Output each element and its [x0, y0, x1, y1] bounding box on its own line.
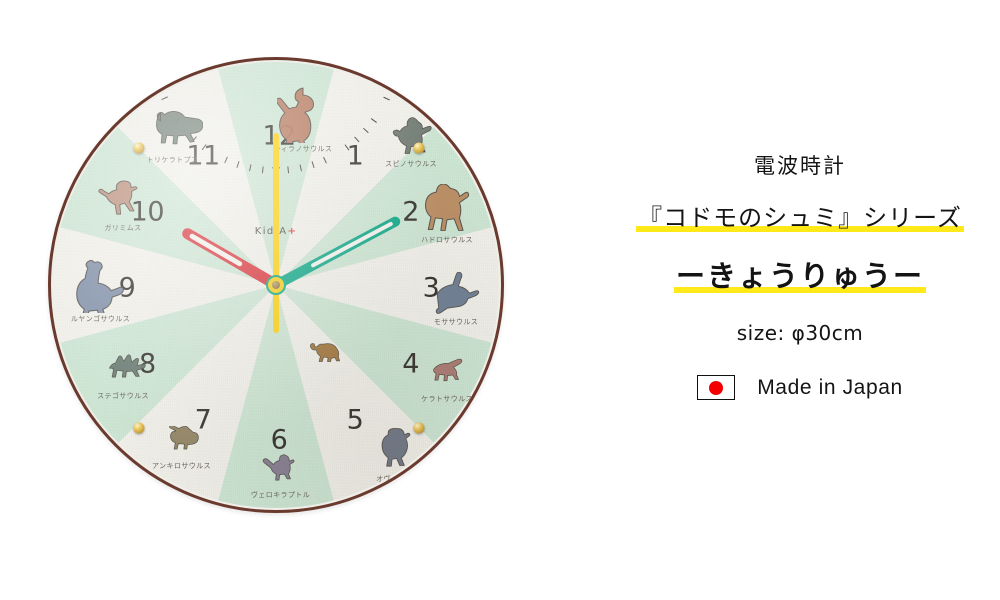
dinosaur-figure-3: ハドロサウルス [420, 184, 474, 234]
brand-name: Kid [255, 226, 275, 237]
decorative-stud-2 [414, 142, 425, 153]
dinosaur-figure-0: ティラノサウルス [277, 85, 329, 143]
series-label-text: 『コドモのシュミ』シリーズ [636, 204, 964, 232]
theme-label-text: ーきょうりゅうー [674, 259, 926, 293]
dinosaur-figure-5: ケラトサウルス [421, 357, 473, 393]
dinosaur-label: モササウルス [434, 317, 478, 327]
product-type-label: 電波時計 [600, 150, 1000, 180]
dinosaur-label: ハドロサウルス [421, 235, 473, 245]
second-hand [273, 133, 279, 333]
product-image: 121234567891011 ティラノサウルス トリケラトプス スピノサウルス… [0, 0, 1000, 600]
dinosaur-label: ステゴサウルス [97, 391, 149, 401]
hour-numeral-5: 5 [347, 404, 364, 435]
minute-tick [388, 85, 395, 88]
hour-numeral-2: 2 [402, 197, 419, 228]
dinosaur-figure-2: スピノサウルス [386, 116, 436, 158]
minute-tick [154, 73, 161, 76]
brand-mark: A [279, 226, 287, 237]
decorative-stud-4 [133, 423, 144, 434]
minute-tick [393, 61, 400, 63]
dinosaur-figure-mammoth [307, 339, 353, 375]
product-info-panel: 電波時計 『コドモのシュミ』シリーズ ーきょうりゅうー size: φ30cm … [600, 150, 1000, 400]
dinosaur-label: ヴェロキラプトル [251, 490, 310, 500]
minute-tick [391, 73, 398, 76]
size-label: size: φ30cm [600, 321, 1000, 345]
made-in-row: Made in Japan [600, 375, 1000, 400]
decorative-stud-1 [133, 142, 144, 153]
flag-sun [709, 381, 723, 395]
japan-flag-icon [697, 375, 735, 400]
dinosaur-label: トリケラトプス [147, 155, 199, 165]
dinosaur-figure-9: ステゴサウルス [96, 352, 150, 390]
clock-rim: 121234567891011 ティラノサウルス トリケラトプス スピノサウルス… [48, 57, 504, 513]
dinosaur-label: アンキロサウルス [152, 461, 211, 471]
dinosaur-figure-4: モササウルス [430, 272, 482, 316]
series-label: 『コドモのシュミ』シリーズ [600, 198, 1000, 233]
center-cap [266, 275, 286, 295]
dinosaur-label: ルヤンゴサウルス [71, 314, 130, 324]
dinosaur-figure-11: ガリミムス [97, 178, 149, 222]
dinosaur-figure-7: ヴェロキラプトル [257, 451, 305, 489]
dinosaur-label: ケラトサウルス [421, 394, 473, 404]
dinosaur-label: ティラノサウルス [274, 144, 333, 154]
hour-numeral-4: 4 [402, 349, 419, 380]
minute-tick [157, 85, 164, 88]
brand-plus-icon: + [287, 226, 297, 237]
dinosaur-label: スピノサウルス [385, 159, 437, 169]
minute-tick [152, 61, 159, 63]
dinosaur-figure-10: ルヤンゴサウルス [73, 257, 129, 313]
dinosaur-label: ガリミムス [105, 223, 142, 233]
dinosaur-figure-8: アンキロサウルス [154, 426, 210, 460]
dinosaur-figure-1: トリケラトプス [143, 110, 203, 154]
hour-numeral-1: 1 [347, 141, 364, 172]
decorative-stud-3 [414, 423, 425, 434]
wall-clock: 121234567891011 ティラノサウルス トリケラトプス スピノサウルス… [48, 57, 504, 513]
dinosaur-label: オヴィラプトル [376, 474, 428, 484]
theme-label: ーきょうりゅうー [600, 253, 1000, 295]
made-in-label: Made in Japan [757, 376, 903, 400]
